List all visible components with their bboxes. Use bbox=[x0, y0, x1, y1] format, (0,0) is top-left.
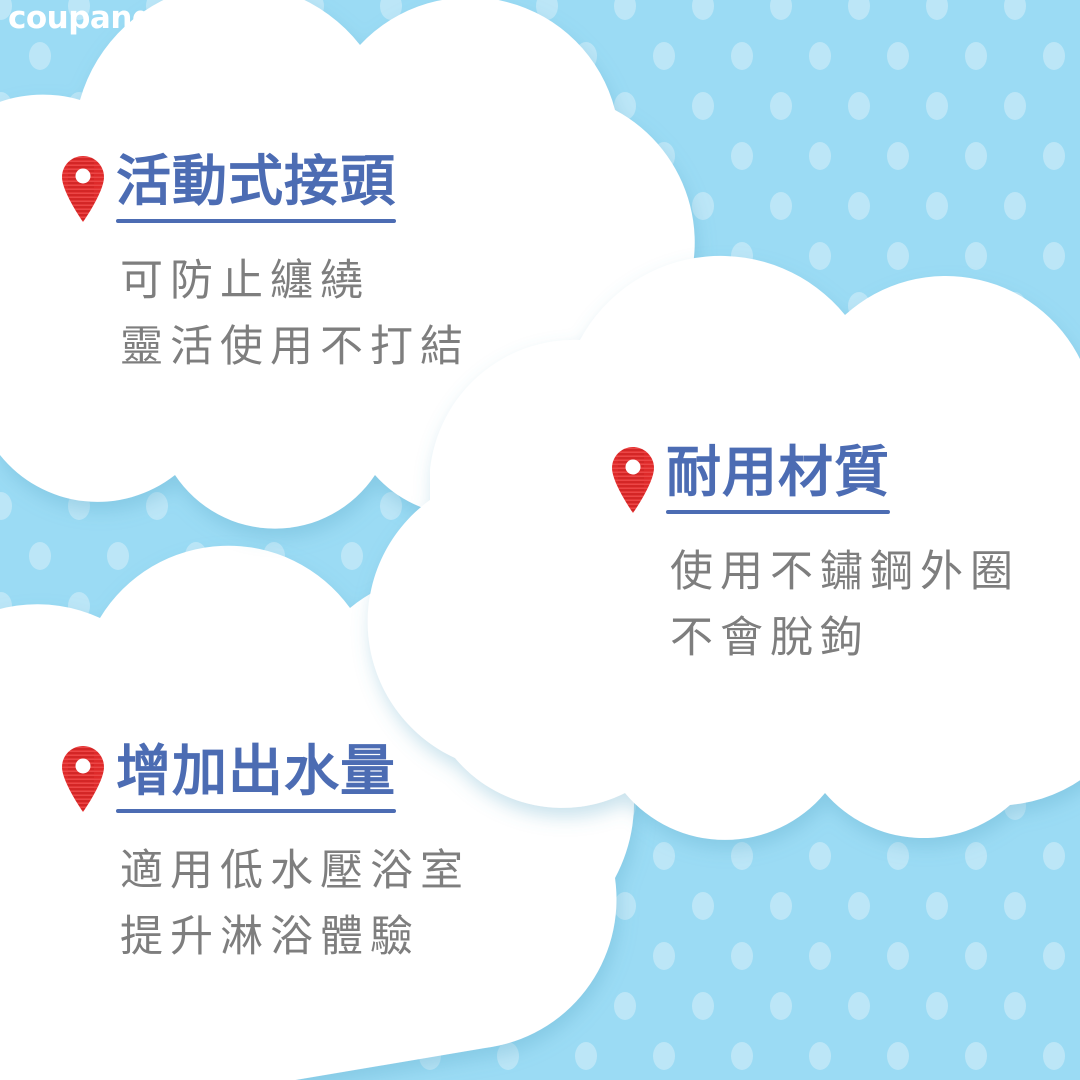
feature-2-headline: 耐用材質 bbox=[666, 443, 890, 502]
feature-1-underline bbox=[116, 219, 396, 223]
feature-2-line-2: 不會脫鉤 bbox=[670, 606, 1020, 671]
feature-3-underline bbox=[116, 809, 396, 813]
feature-1-headline: 活動式接頭 bbox=[116, 152, 396, 211]
feature-2-description: 使用不鏽鋼外圈 不會脫鉤 bbox=[670, 540, 1020, 671]
map-pin-icon bbox=[62, 746, 104, 812]
feature-2-heading-row: 耐用材質 bbox=[612, 443, 1020, 514]
feature-3-headline: 增加出水量 bbox=[116, 742, 396, 801]
feature-1-heading-row: 活動式接頭 bbox=[62, 152, 470, 223]
feature-2-underline bbox=[666, 510, 890, 514]
coupang-logo: coupang bbox=[8, 3, 154, 34]
feature-2-line-1: 使用不鏽鋼外圈 bbox=[670, 540, 1020, 605]
feature-3-description: 適用低水壓浴室 提升淋浴體驗 bbox=[120, 839, 470, 970]
feature-block-2: 耐用材質 使用不鏽鋼外圈 不會脫鉤 bbox=[612, 443, 1020, 671]
feature-block-3: 增加出水量 適用低水壓浴室 提升淋浴體驗 bbox=[62, 742, 470, 970]
promo-banner: coupang bbox=[0, 0, 1080, 1080]
feature-3-heading-row: 增加出水量 bbox=[62, 742, 470, 813]
map-pin-icon bbox=[612, 447, 654, 513]
feature-1-line-2: 靈活使用不打結 bbox=[120, 315, 470, 380]
feature-block-1: 活動式接頭 可防止纏繞 靈活使用不打結 bbox=[62, 152, 470, 380]
map-pin-icon bbox=[62, 156, 104, 222]
feature-1-description: 可防止纏繞 靈活使用不打結 bbox=[120, 249, 470, 380]
feature-3-line-1: 適用低水壓浴室 bbox=[120, 839, 470, 904]
feature-3-line-2: 提升淋浴體驗 bbox=[120, 905, 470, 970]
feature-1-line-1: 可防止纏繞 bbox=[120, 249, 470, 314]
